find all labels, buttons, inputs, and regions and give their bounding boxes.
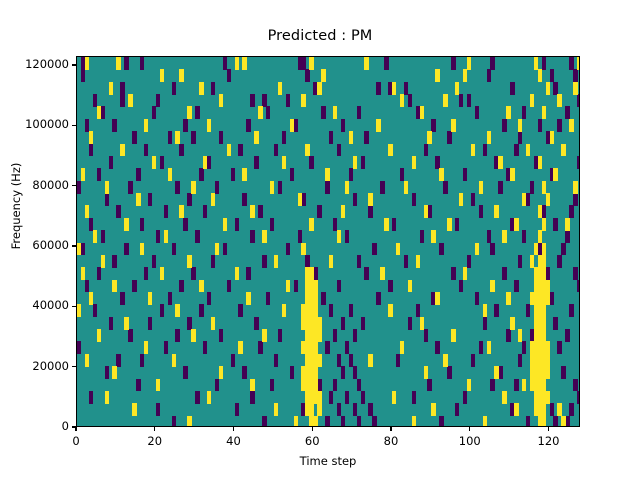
heatmap-cell-low (301, 193, 305, 206)
heatmap-cell-low (329, 304, 333, 317)
heatmap-cell-high (160, 267, 164, 280)
heatmap-cell-high (384, 218, 388, 231)
x-axis-label: Time step (76, 454, 580, 468)
heatmap-cell-high (424, 205, 428, 218)
heatmap-cell-high (349, 131, 353, 144)
heatmap-cell-high (404, 181, 408, 194)
heatmap-cell-high (199, 82, 203, 95)
heatmap-cell-high (542, 267, 546, 280)
heatmap-cell-high (577, 57, 580, 70)
heatmap-cell-low (231, 168, 235, 181)
heatmap-cell-low (152, 106, 156, 119)
heatmap-cell-low (412, 193, 416, 206)
heatmap-cell-low (231, 354, 235, 367)
heatmap-cell-low (424, 329, 428, 342)
page-title: Predicted : PM (0, 28, 640, 44)
y-tick-mark (72, 185, 76, 186)
y-tick-mark (72, 125, 76, 126)
heatmap-cell-low (550, 292, 554, 305)
heatmap-cell-high (187, 106, 191, 119)
heatmap-cell-low (502, 267, 506, 280)
heatmap-cell-high (148, 292, 152, 305)
heatmap-cell-low (183, 218, 187, 231)
heatmap-cell-low (364, 131, 368, 144)
heatmap-grid (77, 57, 579, 426)
heatmap-cell-low (569, 205, 573, 218)
heatmap-cell-low (301, 57, 305, 70)
heatmap-cell-high (538, 69, 542, 82)
heatmap-cell-high (262, 230, 266, 243)
heatmap-cell-low (577, 156, 580, 169)
heatmap-cell-low (353, 329, 357, 342)
heatmap-cell-low (242, 193, 246, 206)
heatmap-cell-high (412, 156, 416, 169)
heatmap-cell-high (487, 131, 491, 144)
heatmap-cell-low (211, 255, 215, 268)
heatmap-cell-low (455, 403, 459, 416)
y-tick-mark (72, 245, 76, 246)
heatmap-cell-low (573, 379, 577, 392)
heatmap-cell-high (542, 379, 546, 392)
heatmap-cell-low (471, 354, 475, 367)
heatmap-cell-low (136, 379, 140, 392)
heatmap-cell-high (561, 416, 565, 427)
heatmap-cell-high (105, 181, 109, 194)
heatmap-cell-high (463, 267, 467, 280)
heatmap-cell-low (242, 366, 246, 379)
heatmap-cell-high (510, 317, 514, 330)
heatmap-cell-high (400, 341, 404, 354)
heatmap-cell-low (81, 69, 85, 82)
heatmap-cell-high (463, 69, 467, 82)
heatmap-cell-high (313, 292, 317, 305)
heatmap-cell-high (164, 230, 168, 243)
heatmap-cell-low (250, 94, 254, 107)
y-tick-label: 100000 (25, 117, 69, 131)
heatmap-cell-low (577, 391, 580, 404)
heatmap-cell-high (431, 403, 435, 416)
heatmap-cell-high (506, 106, 510, 119)
heatmap-cell-low (471, 193, 475, 206)
heatmap-cell-low (353, 193, 357, 206)
heatmap-cell-low (274, 354, 278, 367)
heatmap-cell-high (337, 230, 341, 243)
heatmap-cell-low (475, 292, 479, 305)
heatmap-cell-high (301, 243, 305, 256)
heatmap-cell-low (278, 329, 282, 342)
heatmap-cell-low (109, 317, 113, 330)
heatmap-cell-high (313, 341, 317, 354)
heatmap-cell-low (357, 379, 361, 392)
heatmap-cell-low (530, 181, 534, 194)
heatmap-cell-low (573, 267, 577, 280)
heatmap-cell-low (298, 230, 302, 243)
heatmap-cell-low (404, 82, 408, 95)
heatmap-cell-high (518, 119, 522, 132)
heatmap-cell-low (376, 292, 380, 305)
heatmap-cell-high (542, 329, 546, 342)
heatmap-cell-low (238, 304, 242, 317)
heatmap-cell-high (313, 416, 317, 427)
heatmap-cell-high (298, 193, 302, 206)
heatmap-cell-low (463, 168, 467, 181)
heatmap-cell-low (175, 329, 179, 342)
heatmap-cell-high (120, 144, 124, 157)
heatmap-cell-high (136, 193, 140, 206)
y-tick-label: 80000 (32, 178, 69, 192)
heatmap-cell-high (227, 144, 231, 157)
heatmap-cell-low (262, 94, 266, 107)
heatmap-cell-high (546, 391, 550, 404)
heatmap-cell-low (483, 144, 487, 157)
heatmap-cell-high (238, 341, 242, 354)
heatmap-cell-low (510, 82, 514, 95)
x-tick-label: 100 (459, 434, 481, 448)
heatmap-cell-high (392, 391, 396, 404)
heatmap-cell-low (487, 69, 491, 82)
heatmap-cell-low (447, 131, 451, 144)
heatmap-cell-high (128, 94, 132, 107)
heatmap-cell-high (483, 304, 487, 317)
heatmap-cell-low (494, 304, 498, 317)
heatmap-cell-high (542, 403, 546, 416)
heatmap-cell-high (467, 379, 471, 392)
heatmap-cell-high (112, 280, 116, 293)
heatmap-cell-high (333, 106, 337, 119)
heatmap-cell-low (569, 304, 573, 317)
heatmap-cell-high (538, 205, 542, 218)
heatmap-cell-low (577, 280, 580, 293)
heatmap-cell-low (325, 416, 329, 427)
heatmap-cell-low (553, 416, 557, 427)
x-tick-mark (312, 427, 313, 431)
heatmap-cell-low (372, 243, 376, 256)
heatmap-cell-high (546, 193, 550, 206)
heatmap-cell-high (546, 292, 550, 305)
heatmap-cell-low (557, 341, 561, 354)
heatmap-cell-low (219, 329, 223, 342)
heatmap-cell-low (392, 218, 396, 231)
heatmap-cell-low (565, 230, 569, 243)
heatmap-cell-low (164, 205, 168, 218)
heatmap-cell-high (250, 205, 254, 218)
heatmap-cell-low (203, 205, 207, 218)
x-tick-label: 80 (384, 434, 399, 448)
heatmap-cell-high (144, 119, 148, 132)
heatmap-cell-high (77, 304, 81, 317)
heatmap-cell-low (168, 292, 172, 305)
heatmap-cell-low (333, 218, 337, 231)
heatmap-cell-low (435, 341, 439, 354)
heatmap-cell-low (195, 106, 199, 119)
heatmap-cell-low (502, 119, 506, 132)
heatmap-cell-low (408, 317, 412, 330)
heatmap-cell-high (542, 317, 546, 330)
heatmap-cell-low (93, 304, 97, 317)
heatmap-cell-low (124, 57, 128, 70)
heatmap-cell-high (317, 391, 321, 404)
heatmap-cell-low (112, 119, 116, 132)
heatmap-cell-high (420, 317, 424, 330)
heatmap-cell-low (368, 205, 372, 218)
heatmap-cell-high (235, 57, 239, 70)
heatmap-cell-low (207, 292, 211, 305)
heatmap-cell-low (467, 94, 471, 107)
heatmap-cell-low (89, 144, 93, 157)
heatmap-cell-low (349, 354, 353, 367)
x-tick-label: 120 (538, 434, 560, 448)
heatmap-cell-high (219, 94, 223, 107)
heatmap-cell-high (294, 416, 298, 427)
heatmap-cell-high (219, 366, 223, 379)
heatmap-cell-high (388, 304, 392, 317)
heatmap-cell-low (577, 94, 580, 107)
heatmap-cell-low (270, 218, 274, 231)
heatmap-cell-high (565, 218, 569, 231)
heatmap-cell-low (317, 379, 321, 392)
heatmap-cell-high (309, 218, 313, 231)
heatmap-cell-low (364, 267, 368, 280)
x-tick-mark (75, 427, 76, 431)
heatmap-cell-low (514, 280, 518, 293)
heatmap-cell-high (546, 366, 550, 379)
heatmap-cell-low (313, 267, 317, 280)
heatmap-cell-high (514, 403, 518, 416)
heatmap-cell-high (514, 218, 518, 231)
heatmap-cell-high (144, 341, 148, 354)
heatmap-cell-low (93, 94, 97, 107)
heatmap-cell-high (542, 106, 546, 119)
heatmap-cell-high (416, 255, 420, 268)
heatmap-cell-high (475, 243, 479, 256)
heatmap-cell-high (85, 205, 89, 218)
heatmap-cell-low (207, 156, 211, 169)
heatmap-cell-high (506, 292, 510, 305)
heatmap-cell-high (317, 317, 321, 330)
heatmap-cell-low (116, 354, 120, 367)
heatmap-cell-high (325, 168, 329, 181)
heatmap-cell-high (534, 243, 538, 256)
heatmap-cell-low (498, 181, 502, 194)
heatmap-cell-high (215, 243, 219, 256)
heatmap-cell-low (557, 119, 561, 132)
heatmap-cell-low (479, 341, 483, 354)
heatmap-cell-low (542, 205, 546, 218)
heatmap-cell-low (132, 280, 136, 293)
heatmap-cell-low (305, 69, 309, 82)
heatmap-cell-high (412, 416, 416, 427)
heatmap-cell-low (278, 181, 282, 194)
heatmap-cell-high (542, 255, 546, 268)
heatmap-cell-low (215, 379, 219, 392)
heatmap-cell-low (270, 379, 274, 392)
heatmap-cell-high (309, 57, 313, 70)
heatmap-cell-high (427, 131, 431, 144)
heatmap-cell-high (172, 354, 176, 367)
matplotlib-figure: Predicted : PM 0200004000060000800001000… (0, 0, 640, 480)
heatmap-cell-low (85, 280, 89, 293)
heatmap-cell-low (128, 181, 132, 194)
heatmap-cell-low (183, 119, 187, 132)
heatmap-cell-high (459, 193, 463, 206)
heatmap-cell-low (238, 144, 242, 157)
heatmap-cell-high (569, 119, 573, 132)
heatmap-cell-high (317, 329, 321, 342)
heatmap-cell-low (294, 119, 298, 132)
heatmap-cell-high (494, 366, 498, 379)
heatmap-cell-low (77, 181, 81, 194)
heatmap-cell-high (542, 181, 546, 194)
y-axis-label: Frequency (Hz) (9, 106, 23, 306)
heatmap-cell-high (207, 391, 211, 404)
heatmap-cell-low (341, 119, 345, 132)
heatmap-cell-high (534, 57, 538, 70)
heatmap-cell-low (191, 131, 195, 144)
heatmap-cell-high (156, 379, 160, 392)
heatmap-cell-low (128, 329, 132, 342)
heatmap-cell-high (546, 341, 550, 354)
heatmap-cell-low (396, 354, 400, 367)
heatmap-cell-low (219, 131, 223, 144)
heatmap-cell-high (439, 168, 443, 181)
heatmap-cell-high (368, 193, 372, 206)
heatmap-cell-high (467, 57, 471, 70)
heatmap-cell-high (191, 181, 195, 194)
heatmap-cell-high (522, 193, 526, 206)
x-tick-mark (154, 427, 155, 431)
heatmap-cell-low (179, 144, 183, 157)
heatmap-cell-low (282, 131, 286, 144)
heatmap-cell-low (101, 230, 105, 243)
heatmap-cell-low (357, 416, 361, 427)
heatmap-cell-high (573, 181, 577, 194)
heatmap-cell-low (211, 82, 215, 95)
heatmap-cell-high (345, 181, 349, 194)
x-tick-mark (233, 427, 234, 431)
heatmap-cell-low (561, 366, 565, 379)
heatmap-cell-high (152, 156, 156, 169)
heatmap-cell-low (156, 230, 160, 243)
heatmap-cell-low (120, 94, 124, 107)
heatmap-cell-low (258, 341, 262, 354)
heatmap-cell-low (439, 416, 443, 427)
heatmap-cell-low (235, 218, 239, 231)
heatmap-cell-low (357, 106, 361, 119)
heatmap-cell-high (278, 82, 282, 95)
heatmap-cell-high (81, 267, 85, 280)
heatmap-cell-high (542, 304, 546, 317)
heatmap-cell-low (337, 354, 341, 367)
heatmap-cell-high (538, 230, 542, 243)
heatmap-cell-high (81, 168, 85, 181)
heatmap-cell-high (542, 218, 546, 231)
heatmap-cell-high (211, 317, 215, 330)
heatmap-cell-high (258, 106, 262, 119)
heatmap-cell-low (475, 106, 479, 119)
heatmap-cell-low (286, 243, 290, 256)
heatmap-cell-low (514, 144, 518, 157)
heatmap-cell-low (235, 403, 239, 416)
heatmap-cell-high (420, 106, 424, 119)
heatmap-cell-low (329, 131, 333, 144)
heatmap-cell-high (538, 156, 542, 169)
heatmap-cell-low (144, 267, 148, 280)
heatmap-cell-low (246, 267, 250, 280)
heatmap-cell-low (148, 317, 152, 330)
heatmap-cell-high (530, 255, 534, 268)
heatmap-cell-high (282, 304, 286, 317)
heatmap-cell-high (250, 379, 254, 392)
heatmap-cell-high (282, 156, 286, 169)
heatmap-cell-low (526, 416, 530, 427)
heatmap-cell-high (396, 243, 400, 256)
heatmap-cell-high (168, 168, 172, 181)
heatmap-cell-low (455, 218, 459, 231)
heatmap-cell-high (223, 218, 227, 231)
heatmap-cell-low (553, 317, 557, 330)
heatmap-cell-high (526, 144, 530, 157)
heatmap-cell-low (431, 119, 435, 132)
heatmap-cell-low (321, 106, 325, 119)
heatmap-cell-high (546, 354, 550, 367)
heatmap-cell-low (550, 403, 554, 416)
heatmap-cell-low (262, 255, 266, 268)
heatmap-cell-high (317, 403, 321, 416)
heatmap-cell-high (487, 341, 491, 354)
heatmap-cell-low (223, 243, 227, 256)
heatmap-cell-low (553, 82, 557, 95)
heatmap-cell-high (392, 82, 396, 95)
heatmap-cell-low (262, 416, 266, 427)
heatmap-cell-low (172, 416, 176, 427)
heatmap-cell-low (195, 230, 199, 243)
heatmap-cell-high (494, 205, 498, 218)
heatmap-cell-low (427, 205, 431, 218)
heatmap-cell-low (490, 57, 494, 70)
heatmap-cell-high (313, 366, 317, 379)
heatmap-cell-low (522, 106, 526, 119)
heatmap-cell-low (89, 218, 93, 231)
heatmap-cell-low (309, 156, 313, 169)
heatmap-cell-low (427, 379, 431, 392)
heatmap-cell-high (207, 119, 211, 132)
heatmap-cell-low (573, 193, 577, 206)
heatmap-cell-high (542, 416, 546, 427)
heatmap-cell-low (152, 255, 156, 268)
heatmap-cell-low (368, 403, 372, 416)
heatmap-cell-low (459, 280, 463, 293)
heatmap-cell-low (144, 144, 148, 157)
heatmap-cell-high (270, 181, 274, 194)
heatmap-cell-low (522, 341, 526, 354)
heatmap-cell-low (274, 144, 278, 157)
heatmap-cell-high (93, 230, 97, 243)
heatmap-cell-high (211, 193, 215, 206)
heatmap-cell-high (274, 403, 278, 416)
heatmap-cell-low (479, 205, 483, 218)
y-tick-mark (72, 366, 76, 367)
heatmap-cell-high (471, 144, 475, 157)
heatmap-cell-high (546, 82, 550, 95)
heatmap-cell-low (105, 193, 109, 206)
heatmap-cell-high (97, 106, 101, 119)
heatmap-cell-low (120, 82, 124, 95)
heatmap-cell-high (175, 131, 179, 144)
heatmap-cell-low (361, 317, 365, 330)
heatmap-cell-high (124, 317, 128, 330)
heatmap-cell-low (498, 366, 502, 379)
heatmap-cell-high (455, 82, 459, 95)
